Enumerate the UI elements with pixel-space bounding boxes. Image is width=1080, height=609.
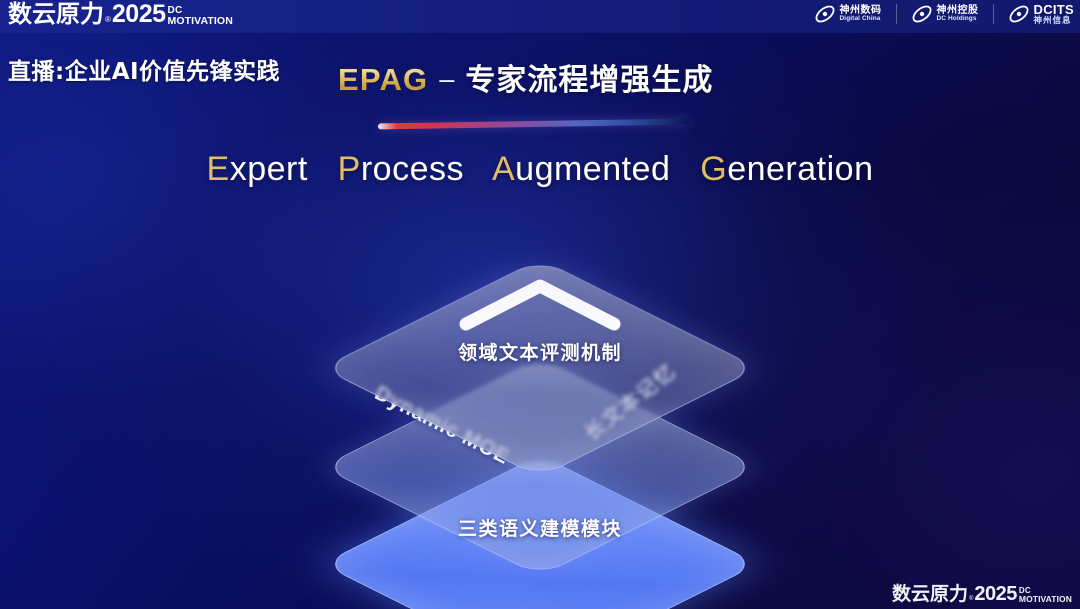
swirl-logo-icon bbox=[814, 3, 836, 25]
partner-name-cn: 神州信息 bbox=[1034, 17, 1075, 26]
subtitle-cap-p: P bbox=[338, 150, 361, 188]
slide-title: EPAG – 专家流程增强生成 bbox=[338, 55, 713, 99]
subtitle-rest-generation: eneration bbox=[727, 150, 873, 188]
subtitle-rest-process: rocess bbox=[361, 150, 464, 188]
subtitle-cap-e: E bbox=[207, 150, 230, 188]
partner-logo-text: 神州数码 Digital China bbox=[840, 6, 882, 23]
watermark-brand-logo: 数云原力 ® 2025 DC MOTIVATION bbox=[892, 583, 1072, 605]
title-dash: – bbox=[439, 64, 454, 95]
logo-divider bbox=[993, 4, 994, 24]
subtitle-word-expert: Expert bbox=[207, 150, 308, 188]
partner-logo-dcits: DCITS 神州信息 bbox=[1008, 3, 1075, 26]
subtitle-word-generation: Generation bbox=[700, 150, 873, 188]
subtitle-expansion: Expert Process Augmented Generation bbox=[0, 150, 1080, 189]
subtitle-word-process: Process bbox=[338, 150, 464, 188]
logo-divider bbox=[896, 4, 897, 24]
subtitle-rest-augmented: ugmented bbox=[515, 150, 670, 188]
partner-logo-row: 神州数码 Digital China 神州控股 DC Holdings bbox=[814, 3, 1075, 26]
partner-name-en: Digital China bbox=[840, 16, 882, 23]
gradient-divider bbox=[378, 119, 690, 130]
partner-logo-text: 神州控股 DC Holdings bbox=[937, 6, 979, 23]
title-acronym: EPAG bbox=[338, 62, 428, 98]
brand-registered-mark: ® bbox=[105, 12, 111, 28]
subtitle-word-augmented: Augmented bbox=[492, 150, 670, 188]
brand-motivation-label: MOTIVATION bbox=[168, 16, 233, 27]
subtitle-space bbox=[680, 150, 690, 188]
swirl-logo-icon bbox=[1008, 3, 1030, 25]
brand-dc-motivation: DC MOTIVATION bbox=[168, 6, 233, 29]
watermark-year: 2025 bbox=[974, 583, 1017, 605]
layered-architecture-diagram: Dynamic MOE 长文本记忆 领域文本评测机制 三类语义建模模块 bbox=[304, 232, 776, 584]
partner-logo-digital-china: 神州数码 Digital China bbox=[814, 3, 882, 25]
brand-dc-label: DC bbox=[168, 6, 233, 16]
live-broadcast-label: 直播:企业AI价值先锋实践 bbox=[8, 52, 280, 86]
subtitle-cap-g: G bbox=[700, 150, 727, 188]
watermark-registered-mark: ® bbox=[969, 593, 973, 605]
swirl-logo-icon bbox=[911, 3, 933, 25]
subtitle-rest-expert: xpert bbox=[230, 150, 308, 188]
layer-plate-top bbox=[321, 259, 759, 478]
watermark-name-cn: 数云原力 bbox=[892, 583, 968, 605]
partner-logo-text: DCITS 神州信息 bbox=[1034, 3, 1075, 26]
subtitle-space bbox=[318, 150, 328, 188]
subtitle-cap-a: A bbox=[492, 150, 515, 188]
watermark-dc-motivation: DC MOTIVATION bbox=[1019, 587, 1072, 606]
title-chinese: 专家流程增强生成 bbox=[465, 55, 713, 99]
brand-year: 2025 bbox=[112, 1, 166, 28]
brand-name-cn: 数云原力 bbox=[8, 1, 104, 28]
partner-logo-dc-holdings: 神州控股 DC Holdings bbox=[911, 3, 979, 25]
brand-logo: 数云原力 ® 2025 DC MOTIVATION bbox=[8, 1, 233, 28]
partner-name-en: DCITS bbox=[1034, 3, 1075, 17]
slide-canvas: 数云原力 ® 2025 DC MOTIVATION 神州数码 Digital C… bbox=[0, 0, 1080, 609]
partner-name-en: DC Holdings bbox=[937, 16, 979, 23]
subtitle-space bbox=[474, 150, 484, 188]
diagram-layer-top[interactable] bbox=[304, 232, 776, 504]
watermark-motivation-label: MOTIVATION bbox=[1019, 595, 1072, 604]
